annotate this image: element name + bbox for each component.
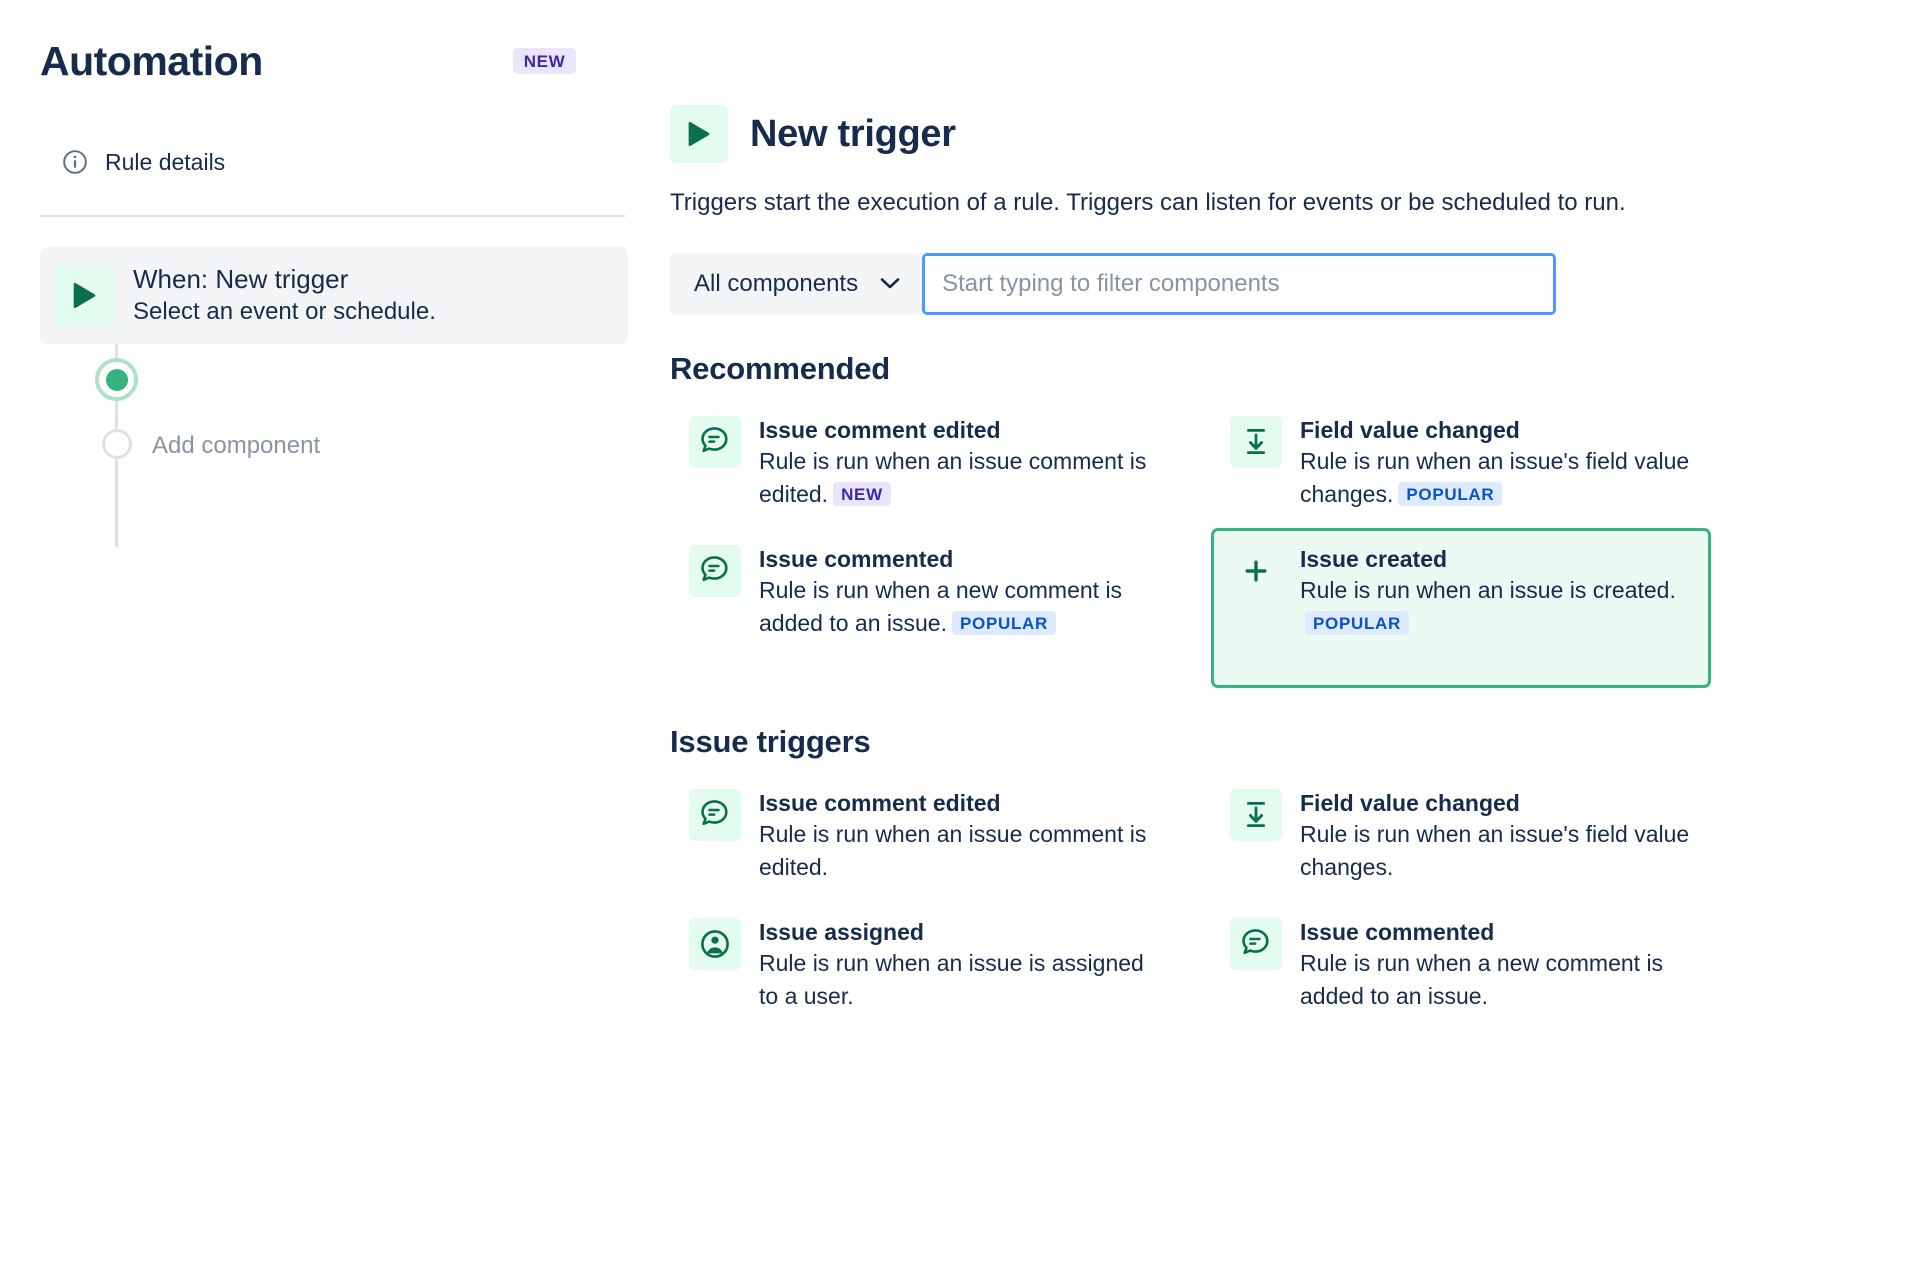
component-scope-select[interactable]: All components — [670, 253, 922, 315]
component-card-body: Issue commented Rule is run when a new c… — [759, 545, 1151, 640]
component-description: Rule is run when a new comment is added … — [759, 574, 1151, 639]
sidebar: Automation NEW Rule details — [0, 0, 660, 1276]
automation-trigger-picker-page: Automation NEW Rule details — [0, 0, 1918, 1276]
timeline-item-texts: When: New trigger Select an event or sch… — [133, 265, 436, 325]
timeline-item-subtitle: Select an event or schedule. — [133, 298, 436, 326]
component-card-issue-comment-edited[interactable]: Issue comment edited Rule is run when an… — [670, 399, 1170, 528]
component-card-body: Issue assigned Rule is run when an issue… — [759, 918, 1151, 1013]
component-description-text: Rule is run when an issue is created. — [1300, 577, 1676, 603]
component-filter-input[interactable] — [922, 253, 1556, 315]
component-description: Rule is run when an issue is created.POP… — [1300, 574, 1692, 639]
rule-details-label: Rule details — [105, 149, 225, 176]
timeline-dot-empty — [102, 429, 132, 459]
play-triangle-icon — [670, 105, 728, 163]
component-card-issue-commented[interactable]: Issue commented Rule is run when a new c… — [1211, 901, 1711, 1030]
component-card-body: Field value changed Rule is run when an … — [1300, 416, 1692, 511]
section-title: Recommended — [670, 351, 1860, 387]
component-title: Issue comment edited — [759, 417, 1151, 445]
main-title: New trigger — [750, 113, 956, 156]
field-value-changed-icon — [1230, 789, 1282, 841]
component-title: Issue commented — [759, 546, 1151, 574]
component-grid: Issue comment edited Rule is run when an… — [670, 772, 1860, 1030]
status-badge: NEW — [833, 482, 891, 506]
component-description-text: Rule is run when an issue comment is edi… — [759, 448, 1146, 507]
comment-bubble-icon — [689, 416, 741, 468]
component-card-issue-comment-edited[interactable]: Issue comment edited Rule is run when an… — [670, 772, 1170, 901]
component-description: Rule is run when an issue comment is edi… — [759, 818, 1151, 883]
main-header: New trigger — [670, 105, 1860, 163]
timeline-dot-filled — [95, 358, 138, 401]
person-circle-icon — [689, 918, 741, 970]
component-title: Field value changed — [1300, 790, 1692, 818]
component-card-body: Issue comment edited Rule is run when an… — [759, 416, 1151, 511]
component-description: Rule is run when an issue comment is edi… — [759, 445, 1151, 510]
timeline-item-add-component[interactable]: Add component — [40, 420, 624, 472]
component-title: Issue created — [1300, 546, 1692, 574]
comment-bubble-icon — [689, 789, 741, 841]
comment-bubble-icon — [1230, 918, 1282, 970]
field-value-changed-icon — [1230, 416, 1282, 468]
play-triangle-icon — [53, 265, 115, 327]
component-card-field-value-changed[interactable]: Field value changed Rule is run when an … — [1211, 399, 1711, 528]
comment-bubble-icon — [689, 545, 741, 597]
rule-timeline: When: New trigger Select an event or sch… — [40, 247, 624, 472]
component-description: Rule is run when an issue's field value … — [1300, 818, 1692, 883]
component-grid: Issue comment edited Rule is run when an… — [670, 399, 1860, 688]
page-title: Automation — [40, 41, 263, 82]
component-description: Rule is run when an issue's field value … — [1300, 445, 1692, 510]
sidebar-divider — [40, 215, 625, 217]
chevron-down-icon — [880, 277, 900, 290]
component-title: Issue assigned — [759, 919, 1151, 947]
component-title: Field value changed — [1300, 417, 1692, 445]
add-component-label: Add component — [152, 432, 320, 460]
section-title: Issue triggers — [670, 724, 1860, 760]
sidebar-item-rule-details[interactable]: Rule details — [40, 142, 624, 182]
component-card-field-value-changed[interactable]: Field value changed Rule is run when an … — [1211, 772, 1711, 901]
component-title: Issue comment edited — [759, 790, 1151, 818]
timeline-item-title: When: New trigger — [133, 265, 436, 295]
status-badge: POPULAR — [952, 611, 1056, 635]
plus-icon — [1230, 545, 1282, 597]
component-card-body: Issue created Rule is run when an issue … — [1300, 545, 1692, 640]
component-card-body: Issue commented Rule is run when a new c… — [1300, 918, 1692, 1013]
main-content: New trigger Triggers start the execution… — [660, 0, 1918, 1276]
component-scope-value: All components — [694, 270, 858, 298]
status-badge: POPULAR — [1305, 611, 1409, 635]
section-recommended: Recommended Issue comment edited Rule is… — [670, 351, 1860, 688]
component-card-body: Field value changed Rule is run when an … — [1300, 789, 1692, 884]
timeline-item-when-new-trigger[interactable]: When: New trigger Select an event or sch… — [40, 247, 628, 344]
section-issue-triggers: Issue triggers Issue comment edited Rule… — [670, 724, 1860, 1030]
timeline-node-active[interactable] — [40, 344, 624, 420]
component-description: Rule is run when a new comment is added … — [1300, 947, 1692, 1012]
info-circle-icon — [62, 149, 88, 175]
new-badge: NEW — [513, 48, 576, 74]
component-title: Issue commented — [1300, 919, 1692, 947]
component-card-issue-commented[interactable]: Issue commented Rule is run when a new c… — [670, 528, 1170, 688]
status-badge: POPULAR — [1398, 482, 1502, 506]
component-description-text: Rule is run when a new comment is added … — [759, 577, 1122, 636]
component-card-body: Issue comment edited Rule is run when an… — [759, 789, 1151, 884]
filter-row: All components — [670, 253, 1860, 315]
main-description: Triggers start the execution of a rule. … — [670, 189, 1860, 218]
sidebar-header: Automation NEW — [40, 30, 624, 92]
component-card-issue-assigned[interactable]: Issue assigned Rule is run when an issue… — [670, 901, 1170, 1030]
component-description: Rule is run when an issue is assigned to… — [759, 947, 1151, 1012]
component-card-issue-created[interactable]: Issue created Rule is run when an issue … — [1211, 528, 1711, 688]
